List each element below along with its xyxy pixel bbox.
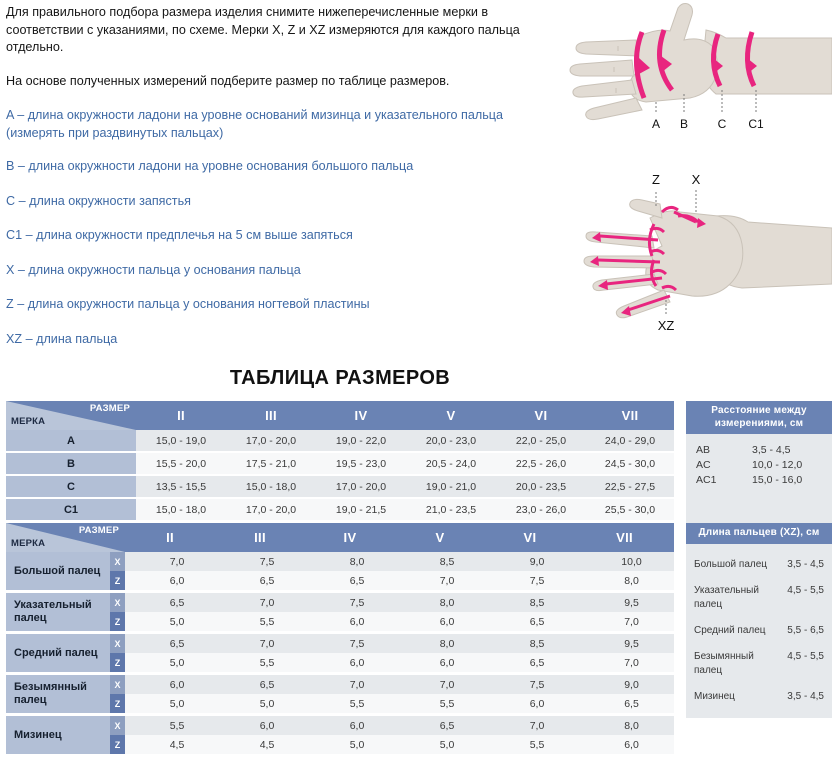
cell: 5,5 [125,715,215,736]
cell: 8,5 [485,633,575,654]
finger-length-key: Большой палец [694,558,780,572]
cell: 6,0 [305,612,395,633]
cell: 5,0 [125,653,215,674]
distance-table-body: AB 3,5 - 4,5 AC 10,0 - 12,0 AC1 15,0 - 1… [686,434,832,527]
measurement-item-c1: C1 – длина окружности предплечья на 5 см… [6,227,562,245]
finger-length-value: 3,5 - 4,5 [780,690,824,704]
cell: 20,0 - 23,0 [406,430,496,452]
finger-name: Мизинец [6,715,110,756]
diagram-label-a: A [652,117,660,131]
corner-measure-label: МЕРКА [11,538,45,549]
finger-length-body: Большой палец 3,5 - 4,5 Указательный пал… [686,544,832,718]
cell: 5,0 [395,735,485,756]
measurement-item-a: A – длина окружности ладони на уровне ос… [6,107,562,142]
finger-length-value: 5,5 - 6,5 [780,624,824,638]
cell: 17,0 - 20,0 [226,498,316,521]
finger-table: РАЗМЕР МЕРКА II III IV V VI VII Большой … [6,523,674,757]
list-item: Безымянный палец 4,5 - 5,5 [686,650,832,690]
size-col-vii: VII [575,523,674,552]
size-col-ii: II [136,401,226,430]
cell: 6,0 [305,715,395,736]
table-row: Безымянный палец X 6,0 6,5 7,0 7,0 7,5 9… [6,674,674,695]
cell: 8,0 [395,633,485,654]
cell: 5,0 [125,612,215,633]
table-row: Указательный палец X 6,5 7,0 7,5 8,0 8,5… [6,592,674,613]
cell: 8,5 [395,552,485,571]
cell: 6,0 [215,715,305,736]
cell: 5,0 [305,735,395,756]
cell: 15,0 - 19,0 [136,430,226,452]
cell: 5,0 [125,694,215,715]
cell: 9,5 [575,592,674,613]
row-label: A [6,430,136,452]
cell: 6,0 [395,653,485,674]
cell: 5,0 [215,694,305,715]
size-col-ii: II [125,523,215,552]
table-row: Мизинец X 5,5 6,0 6,0 6,5 7,0 8,0 [6,715,674,736]
cell: 17,5 - 21,0 [226,452,316,475]
list-item: AC 10,0 - 12,0 [686,458,832,473]
cell: 6,5 [305,571,395,592]
cell: 7,0 [395,674,485,695]
finger-length-key: Указательный палец [694,584,780,612]
measurement-item-b: B – длина окружности ладони на уровне ос… [6,158,562,176]
cell: 7,5 [485,674,575,695]
finger-name: Указательный палец [6,592,110,633]
badge-x: X [110,633,125,654]
cell: 7,5 [305,592,395,613]
cell: 24,0 - 29,0 [586,430,674,452]
cell: 19,0 - 21,5 [316,498,406,521]
cell: 20,5 - 24,0 [406,452,496,475]
cell: 6,5 [125,633,215,654]
cell: 20,0 - 23,5 [496,475,586,498]
cell: 10,0 [575,552,674,571]
cell: 6,0 [395,612,485,633]
cell: 7,0 [305,674,395,695]
cell: 5,5 [215,612,305,633]
cell: 7,5 [305,633,395,654]
cell: 19,0 - 21,0 [406,475,496,498]
cell: 6,0 [305,653,395,674]
cell: 4,5 [215,735,305,756]
row-label: C1 [6,498,136,521]
finger-name: Средний палец [6,633,110,674]
diagram-label-c: C [718,117,727,131]
cell: 9,0 [575,674,674,695]
list-item: Указательный палец 4,5 - 5,5 [686,584,832,624]
diagram-label-b: B [680,117,688,131]
cell: 8,0 [305,552,395,571]
table-row: Средний палец X 6,5 7,0 7,5 8,0 8,5 9,5 [6,633,674,654]
distance-value: 10,0 - 12,0 [752,458,822,473]
cell: 8,0 [575,571,674,592]
cell: 19,5 - 23,0 [316,452,406,475]
distance-value: 15,0 - 16,0 [752,473,822,488]
finger-name: Безымянный палец [6,674,110,715]
list-item: Большой палец 3,5 - 4,5 [686,558,832,584]
diagram-label-xz: XZ [658,318,675,333]
finger-table-header-row: РАЗМЕР МЕРКА II III IV V VI VII [6,523,674,552]
finger-length-title: Длина пальцев (XZ), см [686,523,832,544]
cell: 6,5 [215,571,305,592]
badge-z: Z [110,735,125,756]
size-col-v: V [406,401,496,430]
cell: 23,0 - 26,0 [496,498,586,521]
badge-z: Z [110,612,125,633]
cell: 19,0 - 22,0 [316,430,406,452]
cell: 17,0 - 20,0 [226,430,316,452]
cell: 15,5 - 20,0 [136,452,226,475]
table-row: C1 15,0 - 18,0 17,0 - 20,0 19,0 - 21,5 2… [6,498,674,521]
diagram-label-x: X [692,172,701,187]
cell: 7,0 [575,653,674,674]
distance-key: AC1 [696,473,752,488]
section-title: ТАБЛИЦА РАЗМЕРОВ [0,367,680,390]
row-label: C [6,475,136,498]
cell: 9,0 [485,552,575,571]
measurement-item-xz: XZ – длина пальца [6,331,562,349]
cell: 8,0 [395,592,485,613]
badge-x: X [110,674,125,695]
intro-paragraph-2: На основе полученных измерений подберите… [6,73,562,91]
measurement-item-z: Z – длина окружности пальца у основания … [6,296,562,314]
cell: 22,0 - 25,0 [496,430,586,452]
diagram-label-z: Z [652,172,660,187]
cell: 13,5 - 15,5 [136,475,226,498]
cell: 7,0 [125,552,215,571]
table-row: B 15,5 - 20,0 17,5 - 21,0 19,5 - 23,0 20… [6,452,674,475]
intro-paragraph-1: Для правильного подбора размера изделия … [6,4,562,57]
finger-length-value: 4,5 - 5,5 [780,584,824,612]
measurement-item-c: C – длина окружности запястья [6,193,562,211]
diagram-label-c1: C1 [748,117,764,131]
finger-name: Большой палец [6,552,110,592]
cell: 5,5 [395,694,485,715]
corner-size-label: РАЗМЕР [79,525,119,536]
cell: 6,0 [485,694,575,715]
cell: 15,0 - 18,0 [136,498,226,521]
cell: 6,0 [125,571,215,592]
cell: 5,5 [305,694,395,715]
corner-split-cell: РАЗМЕР МЕРКА [6,523,125,552]
corner-size-label: РАЗМЕР [90,403,130,414]
badge-z: Z [110,653,125,674]
cell: 6,0 [125,674,215,695]
hand-side-view-diagram: A B C C1 [566,2,832,142]
hand-back-view-diagram: Z X XZ [566,160,832,345]
cell: 8,0 [575,715,674,736]
distance-table: Расстояние между измерениями, см AB 3,5 … [686,401,832,527]
finger-length-value: 4,5 - 5,5 [780,650,824,678]
cell: 6,5 [125,592,215,613]
badge-x: X [110,592,125,613]
size-col-iii: III [215,523,305,552]
intro-text-column: Для правильного подбора размера изделия … [6,4,562,365]
cell: 6,5 [485,612,575,633]
finger-length-value: 3,5 - 4,5 [780,558,824,572]
cell: 4,5 [125,735,215,756]
measurement-item-x: X – длина окружности пальца у основания … [6,262,562,280]
table-row: Большой палец X 7,0 7,5 8,0 8,5 9,0 10,0 [6,552,674,571]
cell: 6,5 [395,715,485,736]
corner-split-cell: РАЗМЕР МЕРКА [6,401,136,430]
cell: 8,5 [485,592,575,613]
cell: 7,5 [215,552,305,571]
cell: 6,0 [575,735,674,756]
finger-length-key: Средний палец [694,624,780,638]
cell: 7,0 [485,715,575,736]
list-item: Средний палец 5,5 - 6,5 [686,624,832,650]
cell: 17,0 - 20,0 [316,475,406,498]
size-col-iv: IV [305,523,395,552]
cell: 7,0 [575,612,674,633]
cell: 22,5 - 26,0 [496,452,586,475]
row-label: B [6,452,136,475]
list-item: Мизинец 3,5 - 4,5 [686,690,832,716]
size-table-header-row: РАЗМЕР МЕРКА II III IV V VI VII [6,401,674,430]
size-col-iii: III [226,401,316,430]
cell: 6,5 [215,674,305,695]
cell: 7,0 [215,633,305,654]
size-col-iv: IV [316,401,406,430]
cell: 5,5 [215,653,305,674]
cell: 5,5 [485,735,575,756]
cell: 7,0 [215,592,305,613]
corner-measure-label: МЕРКА [11,416,45,427]
list-item: AC1 15,0 - 16,0 [686,473,832,488]
badge-x: X [110,552,125,571]
size-table: РАЗМЕР МЕРКА II III IV V VI VII A 15,0 -… [6,401,674,522]
finger-length-key: Мизинец [694,690,780,704]
badge-z: Z [110,571,125,592]
cell: 21,0 - 23,5 [406,498,496,521]
cell: 25,5 - 30,0 [586,498,674,521]
cell: 7,0 [395,571,485,592]
size-col-v: V [395,523,485,552]
badge-x: X [110,715,125,736]
finger-length-key: Безымянный палец [694,650,780,678]
distance-key: AB [696,443,752,458]
cell: 7,5 [485,571,575,592]
size-col-vi: VI [496,401,586,430]
size-col-vii: VII [586,401,674,430]
list-item: AB 3,5 - 4,5 [686,443,832,458]
cell: 9,5 [575,633,674,654]
cell: 15,0 - 18,0 [226,475,316,498]
table-row: C 13,5 - 15,5 15,0 - 18,0 17,0 - 20,0 19… [6,475,674,498]
size-col-vi: VI [485,523,575,552]
distance-value: 3,5 - 4,5 [752,443,822,458]
cell: 6,5 [485,653,575,674]
distance-table-title: Расстояние между измерениями, см [686,401,832,434]
table-row: A 15,0 - 19,0 17,0 - 20,0 19,0 - 22,0 20… [6,430,674,452]
distance-key: AC [696,458,752,473]
finger-length-table: Длина пальцев (XZ), см Большой палец 3,5… [686,523,832,718]
badge-z: Z [110,694,125,715]
cell: 24,5 - 30,0 [586,452,674,475]
cell: 22,5 - 27,5 [586,475,674,498]
cell: 6,5 [575,694,674,715]
